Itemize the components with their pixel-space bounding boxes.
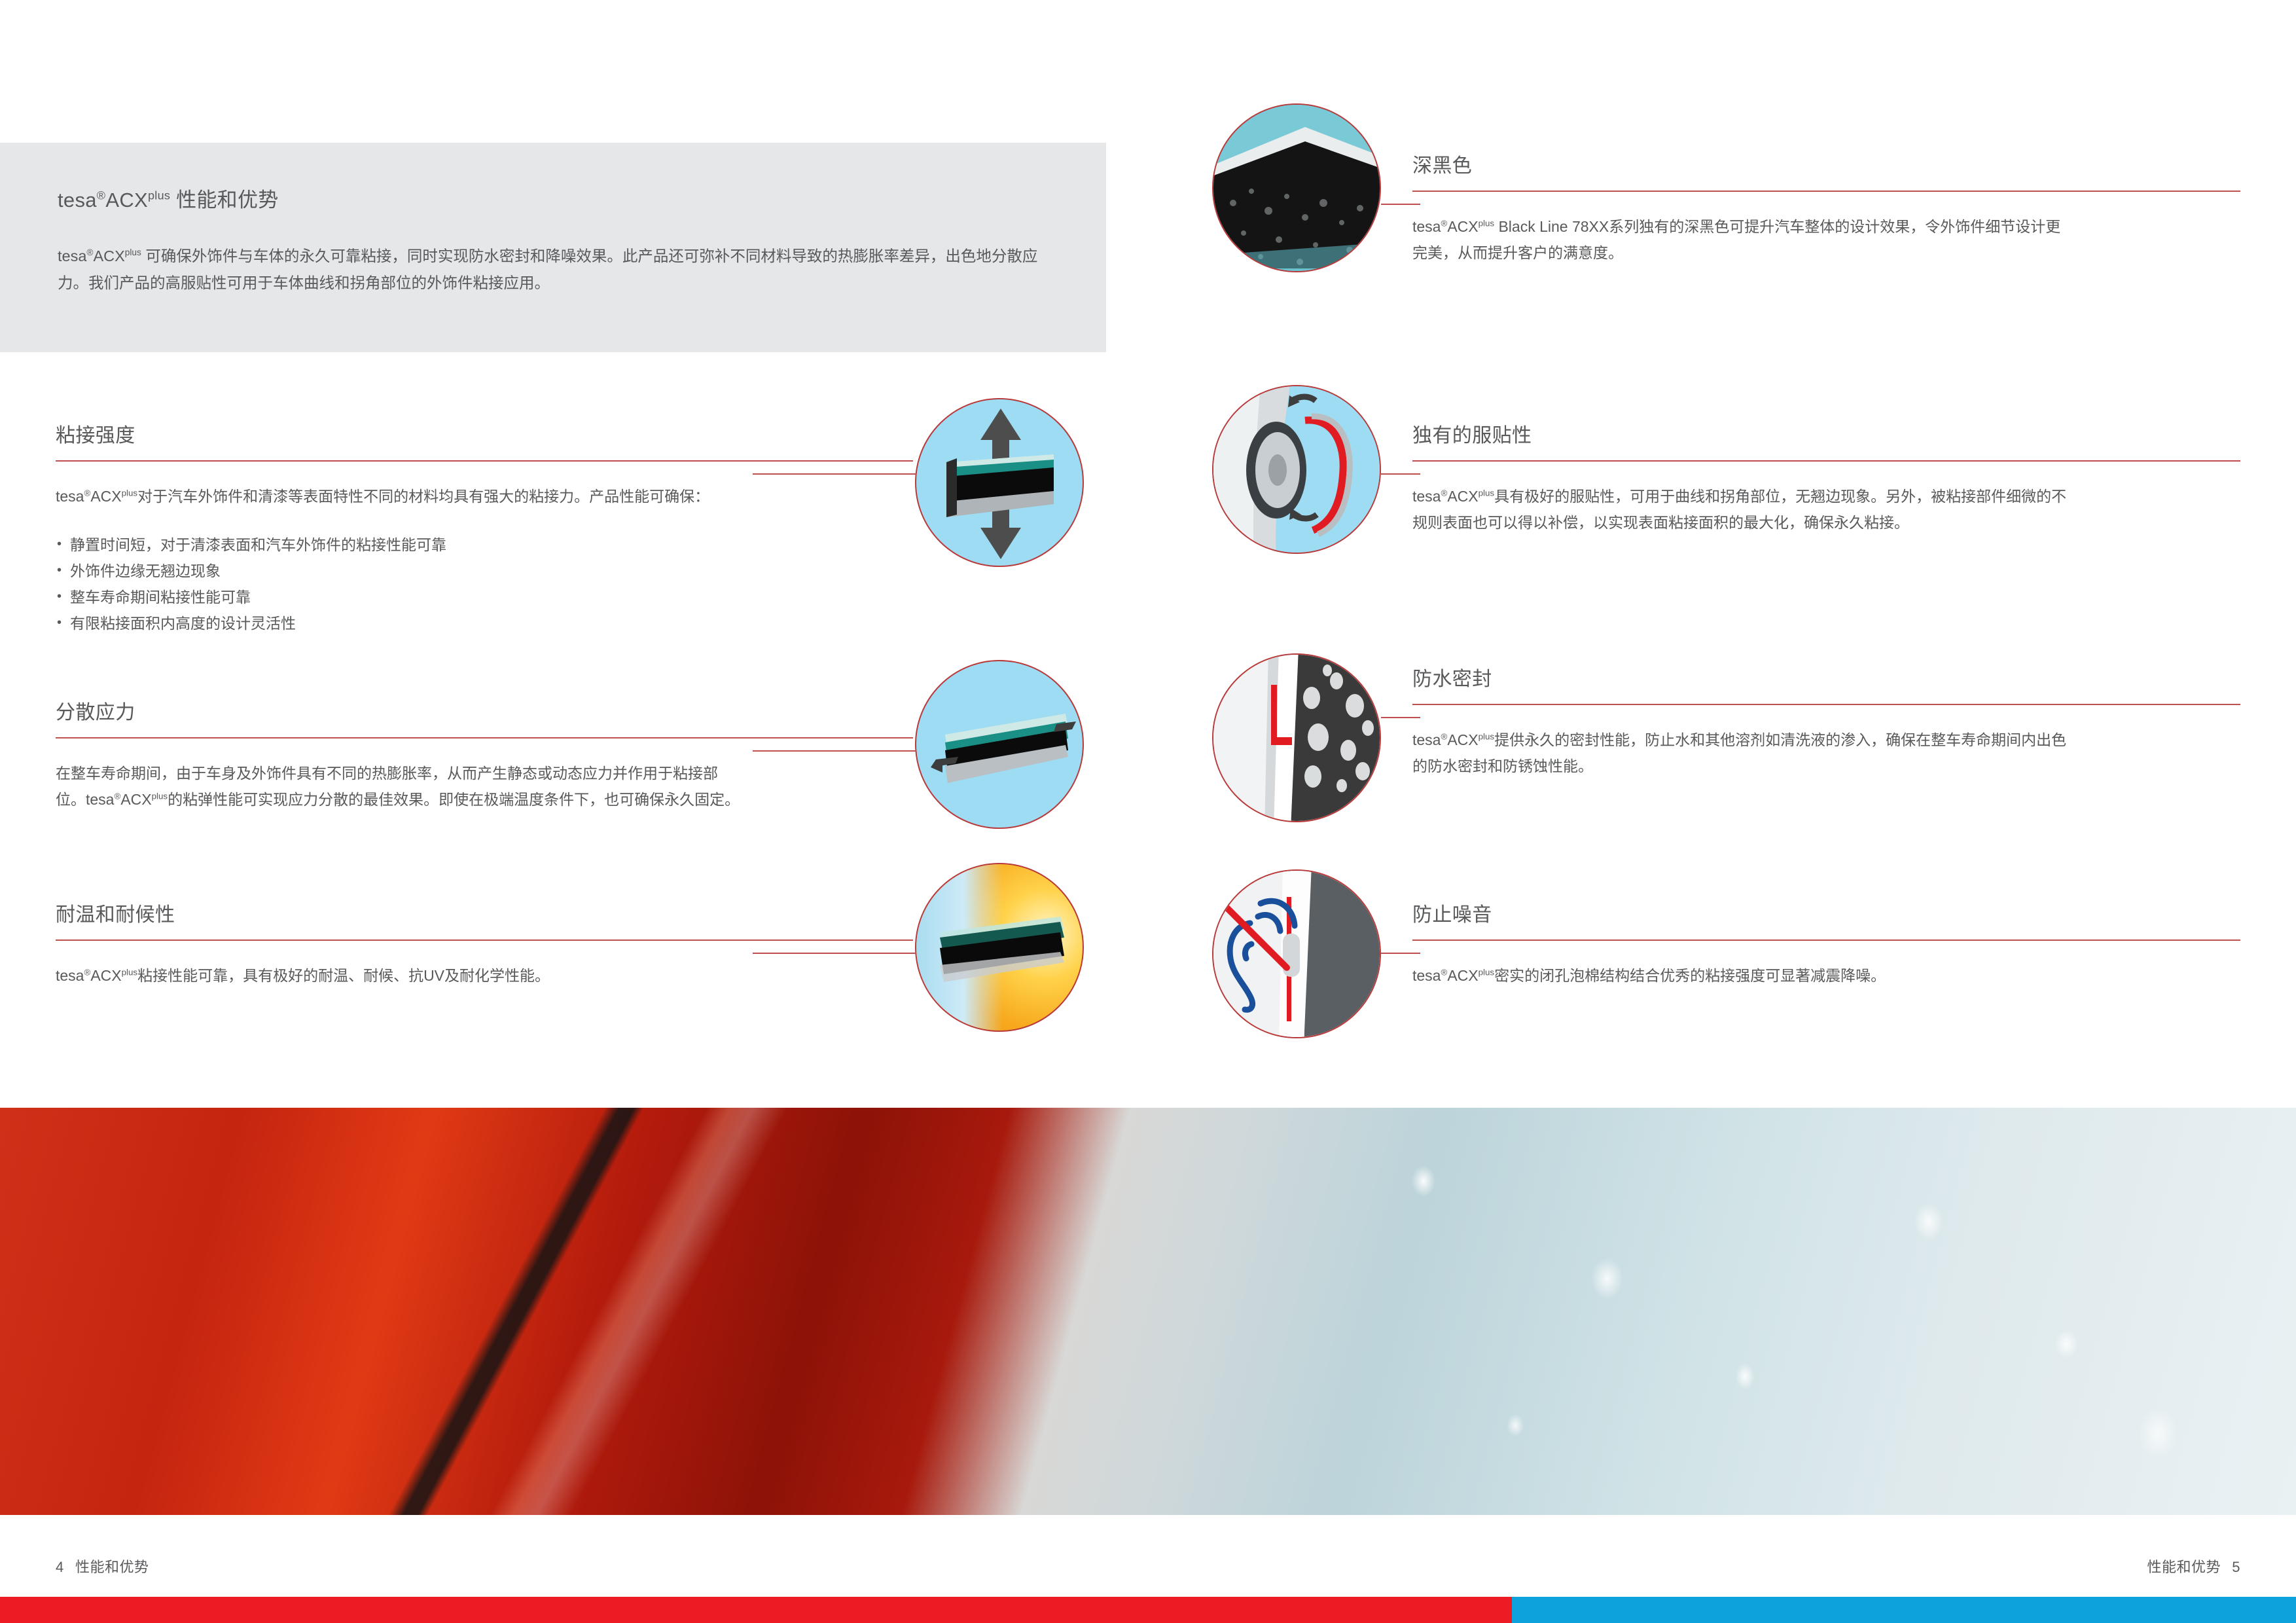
illustration bbox=[1213, 105, 1380, 271]
intro-panel: tesa®ACXplus 性能和优势 tesa®ACXplus 可确保外饰件与车… bbox=[0, 143, 1106, 352]
feature-title: 耐温和耐候性 bbox=[56, 898, 913, 927]
footer-left-label: 性能和优势 bbox=[75, 1559, 149, 1575]
image-tape-cross-section-shear-arrows bbox=[915, 660, 1084, 829]
intro-body-product: ACX bbox=[93, 247, 124, 264]
illustration bbox=[916, 661, 1083, 828]
section-rule bbox=[1412, 191, 2240, 192]
feature-body: tesa®ACXplus Black Line 78XX系列独有的深黑色可提升汽… bbox=[1412, 213, 2073, 266]
black-foam-icon bbox=[1213, 105, 1381, 272]
registered-icon: ® bbox=[1441, 967, 1447, 977]
water-seal-icon bbox=[1213, 655, 1381, 822]
feature-title: 深黑色 bbox=[1412, 149, 2240, 178]
intro-title-superscript: plus bbox=[148, 189, 170, 202]
registered-icon: ® bbox=[1441, 488, 1447, 498]
body-text: 对于汽车外饰件和清漆等表面特性不同的材料均具有强大的粘接力。产品性能可确保： bbox=[137, 488, 709, 505]
feature-title: 防止噪音 bbox=[1412, 898, 2240, 927]
body-text: 密实的闭孔泡棉结构结合优秀的粘接强度可显著减震降噪。 bbox=[1494, 967, 1886, 984]
body-text: Black Line 78XX系列独有的深黑色可提升汽车整体的设计效果，令外饰件… bbox=[1412, 218, 2060, 261]
body-text: 提供永久的密封性能，防止水和其他溶剂如清洗液的渗入，确保在整车寿命期间内出色的防… bbox=[1412, 731, 2066, 775]
feature-bullet-list: 静置时间短，对于清漆表面和汽车外饰件的粘接性能可靠 外饰件边缘无翘边现象 整车寿… bbox=[56, 532, 913, 636]
body-brand: tesa bbox=[56, 488, 84, 505]
panel-gap-shadow bbox=[0, 1108, 759, 1515]
feature-title: 粘接强度 bbox=[56, 419, 913, 448]
registered-icon: ® bbox=[84, 967, 90, 977]
body-brand: tesa bbox=[56, 967, 84, 984]
page-number-left: 4 bbox=[56, 1559, 75, 1576]
registered-icon: ® bbox=[1441, 218, 1447, 228]
feature-body: tesa®ACXplus具有极好的服贴性，可用于曲线和拐角部位，无翘边现象。另外… bbox=[1412, 483, 2073, 536]
intro-body: tesa®ACXplus 可确保外饰件与车体的永久可靠粘接，同时实现防水密封和降… bbox=[58, 243, 1039, 297]
intro-title-rest: 性能和优势 bbox=[170, 189, 278, 211]
section-rule bbox=[56, 737, 913, 739]
connector-line bbox=[1381, 953, 1420, 954]
intro-title: tesa®ACXplus 性能和优势 bbox=[58, 183, 1106, 213]
list-item: 有限粘接面积内高度的设计灵活性 bbox=[56, 610, 913, 636]
registered-icon: ® bbox=[1441, 731, 1447, 741]
feature-bond-strength: 粘接强度 tesa®ACXplus对于汽车外饰件和清漆等表面特性不同的材料均具有… bbox=[56, 419, 913, 636]
body-brand: tesa bbox=[1412, 488, 1441, 505]
registered-icon: ® bbox=[97, 189, 106, 202]
body-product: ACX bbox=[90, 967, 121, 984]
body-product: ACX bbox=[1447, 218, 1478, 235]
registered-icon: ® bbox=[84, 488, 90, 498]
feature-deep-black: 深黑色 tesa®ACXplus Black Line 78XX系列独有的深黑色… bbox=[1412, 149, 2240, 266]
body-brand: tesa bbox=[86, 791, 114, 808]
body-superscript: plus bbox=[122, 488, 137, 498]
body-product: ACX bbox=[1447, 488, 1478, 505]
tape-shear-arrows-icon bbox=[916, 661, 1084, 829]
feature-title: 防水密封 bbox=[1412, 663, 2240, 691]
body-superscript: plus bbox=[1479, 218, 1494, 228]
body-brand: tesa bbox=[1412, 218, 1441, 235]
intro-body-brand: tesa bbox=[58, 247, 86, 264]
footer-bar-red bbox=[0, 1597, 1512, 1623]
body-product: ACX bbox=[1447, 967, 1478, 984]
body-product: ACX bbox=[1447, 731, 1478, 748]
body-text: 粘接性能可靠，具有极好的耐温、耐候、抗UV及耐化学性能。 bbox=[137, 967, 550, 984]
illustration bbox=[1213, 655, 1380, 821]
connector-line bbox=[753, 473, 916, 475]
footer-right: 性能和优势5 bbox=[2147, 1556, 2240, 1577]
body-superscript: plus bbox=[1479, 967, 1494, 977]
connector-line bbox=[1381, 473, 1420, 475]
list-item: 外饰件边缘无翘边现象 bbox=[56, 558, 913, 584]
body-text-part2: 的粘弹性能可实现应力分散的最佳效果。即使在极端温度条件下，也可确保永久固定。 bbox=[168, 791, 740, 808]
body-superscript: plus bbox=[122, 967, 137, 977]
page-number-right: 5 bbox=[2221, 1559, 2240, 1576]
footer-bar-blue bbox=[1512, 1597, 2296, 1623]
image-red-car-rain-droplets bbox=[0, 1108, 2296, 1515]
intro-title-brand: tesa bbox=[58, 189, 97, 211]
feature-body: tesa®ACXplus密实的闭孔泡棉结构结合优秀的粘接强度可显著减震降噪。 bbox=[1412, 962, 2185, 989]
illustration bbox=[916, 399, 1083, 566]
feature-title: 分散应力 bbox=[56, 696, 913, 725]
intro-body-superscript: plus bbox=[125, 247, 141, 257]
wheel-arch-icon bbox=[1213, 386, 1381, 554]
section-rule bbox=[56, 939, 913, 941]
body-product: ACX bbox=[120, 791, 151, 808]
feature-body: 在整车寿命期间，由于车身及外饰件具有不同的热膨胀率，从而产生静态或动态应力并作用… bbox=[56, 760, 746, 812]
body-superscript: plus bbox=[152, 791, 168, 801]
tape-vertical-arrows-icon bbox=[916, 399, 1084, 567]
illustration bbox=[1213, 386, 1380, 553]
body-brand: tesa bbox=[1412, 731, 1441, 748]
connector-line bbox=[753, 953, 916, 954]
image-tape-hot-cold-environment bbox=[915, 863, 1084, 1032]
list-item: 整车寿命期间粘接性能可靠 bbox=[56, 584, 913, 610]
body-brand: tesa bbox=[1412, 967, 1441, 984]
section-rule bbox=[1412, 460, 2240, 462]
connector-line bbox=[1381, 204, 1420, 205]
illustration bbox=[916, 864, 1083, 1030]
image-water-sealed-edge bbox=[1212, 653, 1381, 822]
feature-body: tesa®ACXplus对于汽车外饰件和清漆等表面特性不同的材料均具有强大的粘接… bbox=[56, 483, 733, 509]
footer-left: 4性能和优势 bbox=[56, 1556, 149, 1577]
feature-body: tesa®ACXplus提供永久的密封性能，防止水和其他溶剂如清洗液的渗入，确保… bbox=[1412, 727, 2073, 779]
tape-weather-icon bbox=[916, 864, 1084, 1032]
illustration bbox=[1213, 871, 1380, 1037]
body-superscript: plus bbox=[1479, 488, 1494, 498]
feature-noise-prevention: 防止噪音 tesa®ACXplus密实的闭孔泡棉结构结合优秀的粘接强度可显著减震… bbox=[1412, 898, 2240, 989]
image-black-foam-macro bbox=[1212, 103, 1381, 272]
body-text: 具有极好的服贴性，可用于曲线和拐角部位，无翘边现象。另外，被粘接部件细微的不规则… bbox=[1412, 488, 2066, 531]
registered-icon: ® bbox=[114, 791, 120, 801]
image-no-noise-ear bbox=[1212, 869, 1381, 1038]
body-superscript: plus bbox=[1479, 731, 1494, 741]
feature-title: 独有的服贴性 bbox=[1412, 419, 2240, 448]
section-rule bbox=[1412, 939, 2240, 941]
feature-temperature-weather-resistance: 耐温和耐候性 tesa®ACXplus粘接性能可靠，具有极好的耐温、耐候、抗UV… bbox=[56, 898, 913, 989]
body-product: ACX bbox=[90, 488, 121, 505]
feature-conformability: 独有的服贴性 tesa®ACXplus具有极好的服贴性，可用于曲线和拐角部位，无… bbox=[1412, 419, 2240, 536]
registered-icon: ® bbox=[86, 247, 93, 257]
footer-right-label: 性能和优势 bbox=[2147, 1559, 2221, 1575]
intro-title-product: ACX bbox=[105, 189, 148, 211]
feature-waterproof-sealing: 防水密封 tesa®ACXplus提供永久的密封性能，防止水和其他溶剂如清洗液的… bbox=[1412, 663, 2240, 779]
connector-line bbox=[1381, 717, 1420, 718]
brochure-spread: tesa®ACXplus 性能和优势 tesa®ACXplus 可确保外饰件与车… bbox=[0, 0, 2296, 1623]
image-tape-cross-section-vertical-arrows bbox=[915, 398, 1084, 567]
no-noise-ear-icon bbox=[1213, 871, 1381, 1038]
feature-stress-dispersion: 分散应力 在整车寿命期间，由于车身及外饰件具有不同的热膨胀率，从而产生静态或动态… bbox=[56, 696, 913, 812]
section-rule bbox=[56, 460, 913, 462]
feature-body: tesa®ACXplus粘接性能可靠，具有极好的耐温、耐候、抗UV及耐化学性能。 bbox=[56, 962, 815, 989]
intro-body-text: 可确保外饰件与车体的永久可靠粘接，同时实现防水密封和降噪效果。此产品还可弥补不同… bbox=[58, 247, 1037, 291]
list-item: 静置时间短，对于清漆表面和汽车外饰件的粘接性能可靠 bbox=[56, 532, 913, 558]
image-wheel-arch-trim bbox=[1212, 385, 1381, 554]
section-rule bbox=[1412, 704, 2240, 705]
connector-line bbox=[753, 750, 916, 752]
